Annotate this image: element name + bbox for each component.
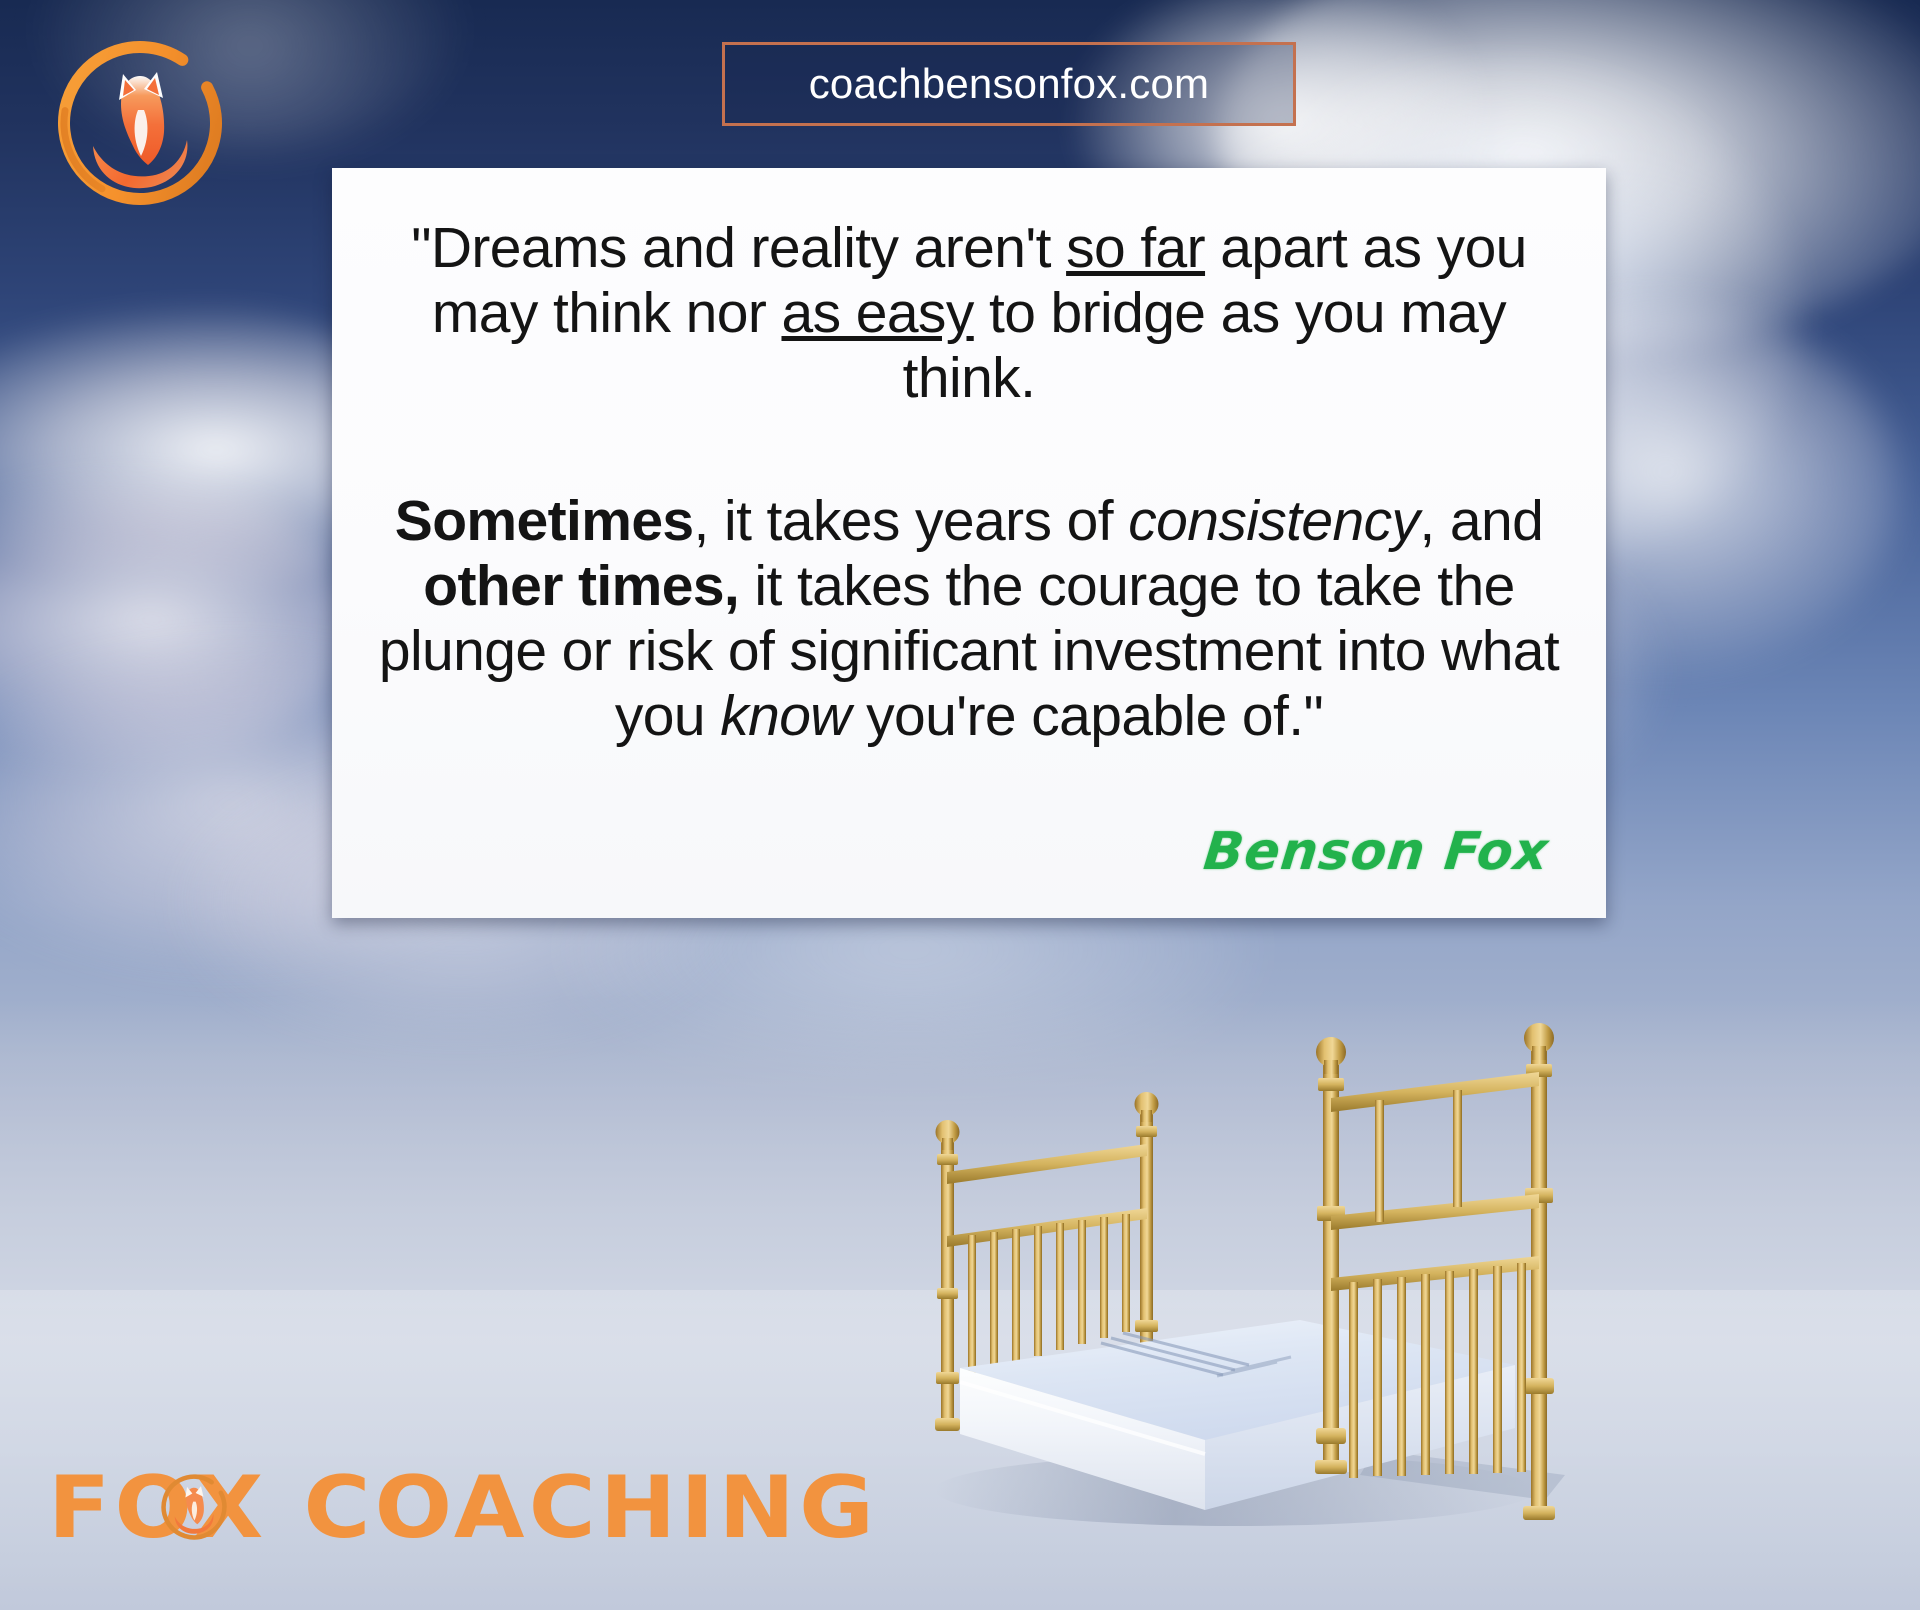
- quote-p2-bold-1: Sometimes: [395, 489, 694, 553]
- website-url-text: coachbensonfox.com: [809, 60, 1210, 108]
- quote-p2-italic-2: know: [720, 684, 851, 748]
- quote-p2-seg-4: you're capable of.": [851, 684, 1323, 748]
- fox-in-circle-icon: [45, 28, 235, 218]
- quote-p2-italic-1: consistency: [1128, 489, 1419, 553]
- quote-p1-underline-1: so far: [1066, 216, 1205, 280]
- bed-illustration: [905, 1020, 1585, 1580]
- quote-p1-post: to bridge as you may think.: [903, 281, 1506, 410]
- quote-p2-seg-2: , and: [1419, 489, 1543, 553]
- fox-coaching-wordmark: FOX COACHING: [48, 1462, 831, 1554]
- quote-p2-bold-2: other times,: [423, 554, 739, 618]
- quote-paragraph-2: Sometimes, it takes years of consistency…: [372, 489, 1566, 749]
- quote-p2-seg-1: , it takes years of: [694, 489, 1129, 553]
- quote-paragraph-1: "Dreams and reality aren't so far apart …: [372, 216, 1566, 411]
- poster-canvas: coachbensonfox.com "Dreams and reality a…: [0, 0, 1920, 1610]
- quote-card: "Dreams and reality aren't so far apart …: [332, 168, 1606, 918]
- quote-attribution: Benson Fox: [1200, 822, 1551, 882]
- quote-p1-pre: "Dreams and reality aren't: [411, 216, 1066, 280]
- quote-p1-underline-2: as easy: [781, 281, 973, 345]
- fox-in-circle-icon: [155, 1468, 233, 1546]
- website-url-badge[interactable]: coachbensonfox.com: [722, 42, 1296, 126]
